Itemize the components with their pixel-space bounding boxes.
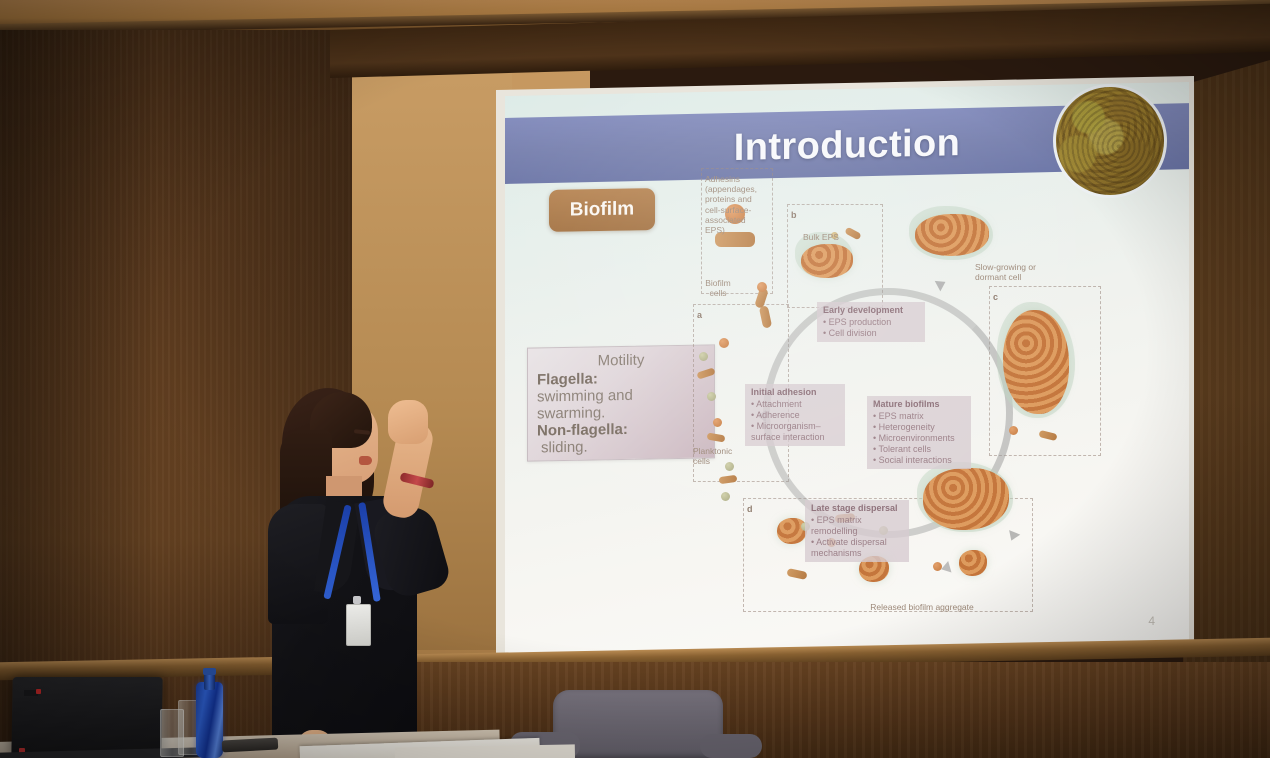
- blue-water-bottle: [196, 682, 223, 758]
- presenter: [262, 378, 462, 758]
- callout-slow-growing: Slow-growing or dormant cell: [975, 262, 1067, 282]
- stage-bullet: Tolerant cells: [873, 444, 965, 455]
- stage-late-dispersal: Late stage dispersal EPS matrix remodell…: [805, 500, 909, 562]
- released-aggregate-3: [959, 550, 987, 576]
- panel-id-c: c: [993, 292, 998, 302]
- stage-bullet: Cell division: [823, 328, 919, 339]
- callout-adhesins: Adhesins (appendages, proteins and cell-…: [705, 174, 767, 235]
- stage-bullet: Social interactions: [873, 455, 965, 466]
- presentation-photo-scene: Introduction Biofilm Motility Flagella: …: [0, 0, 1270, 758]
- slide-page-number: 4: [1148, 614, 1155, 628]
- motility-title: Motility: [537, 351, 705, 371]
- presenter-raised-hand: [388, 400, 428, 444]
- cell-cluster-c: [1003, 310, 1069, 414]
- presenter-mouth: [359, 456, 372, 465]
- stage-heading: Late stage dispersal: [811, 503, 903, 514]
- presenter-name-badge: [346, 604, 371, 646]
- badge-clip: [353, 596, 361, 604]
- stage-bullet: EPS matrix: [873, 411, 965, 422]
- projected-slide: Introduction Biofilm Motility Flagella: …: [505, 82, 1189, 656]
- callout-bulk-eps: Bulk EPS: [803, 232, 839, 242]
- stage-mature-biofilms: Mature biofilms EPS matrix Heterogeneity…: [867, 396, 971, 469]
- stage-bullet: Microenvironments: [873, 433, 965, 444]
- stage-bullet: Attachment: [751, 399, 839, 410]
- cell-cluster-dispersal: [923, 468, 1009, 530]
- released-dot-4: [933, 562, 942, 571]
- stage-bullet: EPS matrix remodelling: [811, 515, 903, 537]
- bottle-cap: [203, 668, 216, 675]
- ring-arrowhead-top: [935, 277, 949, 292]
- planktonic-dot-6: [721, 492, 730, 501]
- motility-nonflagella-text: sliding.: [537, 437, 705, 457]
- panel-id-b: b: [791, 210, 797, 220]
- planktonic-rod-3: [719, 475, 738, 484]
- callout-released-aggregate: Released biofilm aggregate: [837, 602, 1007, 612]
- cell-cluster-b: [801, 244, 853, 278]
- stage-bullet: EPS production: [823, 317, 919, 328]
- stage-bullet: Adherence: [751, 410, 839, 421]
- stage-initial-adhesion: Initial adhesion Attachment Adherence Mi…: [745, 384, 845, 446]
- stage-heading: Initial adhesion: [751, 387, 839, 398]
- stage-heading: Mature biofilms: [873, 399, 965, 410]
- stage-bullet: Activate dispersal mechanisms: [811, 537, 903, 559]
- callout-planktonic-cells: Planktonic cells: [693, 446, 745, 466]
- planktonic-dot-2: [719, 338, 729, 348]
- stage-early-development: Early development EPS production Cell di…: [817, 302, 925, 342]
- chair-arm-right: [700, 734, 762, 758]
- cell-cluster-top: [915, 214, 989, 256]
- panel-id-d: d: [747, 504, 753, 514]
- dispersed-cell-c1: [1009, 426, 1018, 435]
- planktonic-dot-1: [699, 352, 708, 361]
- motility-text-box: Motility Flagella: swimming and swarming…: [527, 344, 715, 461]
- motility-flagella-text: swimming and swarming.: [537, 386, 705, 423]
- stage-heading: Early development: [823, 305, 919, 316]
- planktonic-dot-4: [713, 418, 722, 427]
- biofilm-lifecycle-diagram: a b c d: [691, 170, 1185, 640]
- callout-biofilm-cells: Biofilm cells: [697, 278, 739, 298]
- laptop-logo: [24, 690, 38, 696]
- stage-bullet: Heterogeneity: [873, 422, 965, 433]
- papers-stack-second: [395, 744, 575, 758]
- stage-bullet: Microorganism–surface interaction: [751, 421, 839, 443]
- panel-id-a: a: [697, 310, 702, 320]
- planktonic-dot-3: [707, 392, 716, 401]
- biofilm-badge: Biofilm: [549, 188, 655, 232]
- biofilm-cell-3: [757, 282, 767, 292]
